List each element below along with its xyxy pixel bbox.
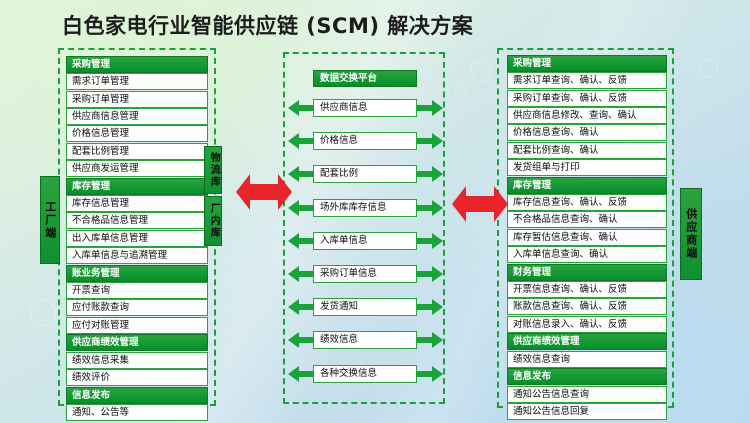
page-title: 白色家电行业智能供应链 (SCM) 解决方案	[62, 10, 473, 40]
exchange-item[interactable]: 绩效信息	[313, 331, 417, 349]
group-header: 供应商绩效管理	[507, 333, 667, 350]
list-item[interactable]: 价格信息查询、确认	[507, 124, 667, 141]
group-header: 信息发布	[66, 387, 208, 404]
group-header: 采购管理	[66, 56, 208, 73]
exchange-item[interactable]: 场外库库存信息	[313, 199, 417, 217]
arrow-right-icon	[417, 100, 443, 116]
list-item[interactable]: 价格信息管理	[66, 125, 208, 142]
exchange-item[interactable]: 价格信息	[313, 132, 417, 150]
bidirectional-arrow-right-icon	[452, 180, 508, 228]
list-item[interactable]: 绩效信息采集	[66, 352, 208, 369]
bidirectional-arrow-left-icon	[236, 168, 292, 216]
group-header: 财务管理	[507, 264, 667, 281]
list-item[interactable]: 绩效信息查询	[507, 351, 667, 368]
list-item[interactable]: 供应商信息修改、查询、确认	[507, 107, 667, 124]
exchange-item[interactable]: 入库单信息	[313, 232, 417, 250]
exchange-item[interactable]: 供应商信息	[313, 99, 417, 117]
list-item[interactable]: 入库单信息查询、确认	[507, 246, 667, 263]
list-item[interactable]: 需求订单查询、确认、反馈	[507, 72, 667, 89]
list-item[interactable]: 对账信息录入、确认、反馈	[507, 316, 667, 333]
group-header: 库存管理	[507, 177, 667, 194]
list-item[interactable]: 出入库单信息管理	[66, 230, 208, 247]
list-item[interactable]: 配套比例管理	[66, 143, 208, 160]
arrow-right-icon	[417, 200, 443, 216]
exchange-item[interactable]: 采购订单信息	[313, 265, 417, 283]
arrow-left-icon	[288, 133, 314, 149]
list-item[interactable]: 库存暂估信息查询、确认	[507, 229, 667, 246]
side-tab-factory: 工厂端	[40, 176, 60, 264]
group-header: 采购管理	[507, 55, 667, 72]
arrow-left-icon	[288, 100, 314, 116]
list-item[interactable]: 绩效评价	[66, 369, 208, 386]
arrow-right-icon	[417, 299, 443, 315]
exchange-item[interactable]: 发货通知	[313, 298, 417, 316]
arrow-left-icon	[288, 332, 314, 348]
list-item[interactable]: 通知公告信息查询	[507, 386, 667, 403]
list-item[interactable]: 入库单信息与追溯管理	[66, 247, 208, 264]
data-exchange-header: 数据交换平台	[313, 70, 417, 87]
list-item[interactable]: 通知公告信息回复	[507, 403, 667, 420]
arrow-right-icon	[417, 266, 443, 282]
list-item[interactable]: 应付对账管理	[66, 317, 208, 334]
exchange-item[interactable]: 各种交换信息	[313, 365, 417, 383]
list-item[interactable]: 不合格品信息查询、确认	[507, 211, 667, 228]
list-item[interactable]: 采购订单管理	[66, 91, 208, 108]
side-tab-inplant-warehouse: 厂内库	[204, 196, 222, 246]
exchange-item[interactable]: 配套比例	[313, 165, 417, 183]
list-item[interactable]: 不合格品信息管理	[66, 212, 208, 229]
group-header: 信息发布	[507, 368, 667, 385]
list-item[interactable]: 账款信息查询、确认、反馈	[507, 298, 667, 315]
arrow-left-icon	[288, 299, 314, 315]
arrow-left-icon	[288, 233, 314, 249]
list-item[interactable]: 供应商信息管理	[66, 108, 208, 125]
group-header: 账业务管理	[66, 265, 208, 282]
arrow-left-icon	[288, 366, 314, 382]
list-item[interactable]: 开票查询	[66, 282, 208, 299]
list-item[interactable]: 供应商发运管理	[66, 160, 208, 177]
list-item[interactable]: 需求订单管理	[66, 73, 208, 90]
list-item[interactable]: 开票信息查询、确认、反馈	[507, 281, 667, 298]
list-item[interactable]: 配套比例查询、确认	[507, 142, 667, 159]
arrow-right-icon	[417, 166, 443, 182]
arrow-right-icon	[417, 366, 443, 382]
arrow-right-icon	[417, 133, 443, 149]
list-item[interactable]: 应付账款查询	[66, 299, 208, 316]
arrow-right-icon	[417, 233, 443, 249]
list-item[interactable]: 库存信息查询、确认、反馈	[507, 194, 667, 211]
group-header: 供应商绩效管理	[66, 334, 208, 351]
side-tab-supplier: 供应商端	[680, 188, 702, 280]
group-header: 库存管理	[66, 178, 208, 195]
arrow-left-icon	[288, 266, 314, 282]
list-item[interactable]: 库存信息管理	[66, 195, 208, 212]
arrow-right-icon	[417, 332, 443, 348]
side-tab-logistics-warehouse: 物流库	[204, 146, 222, 194]
list-item[interactable]: 通知、公告等	[66, 404, 208, 421]
list-item[interactable]: 采购订单查询、确认、反馈	[507, 90, 667, 107]
list-item[interactable]: 发货组单与打印	[507, 159, 667, 176]
